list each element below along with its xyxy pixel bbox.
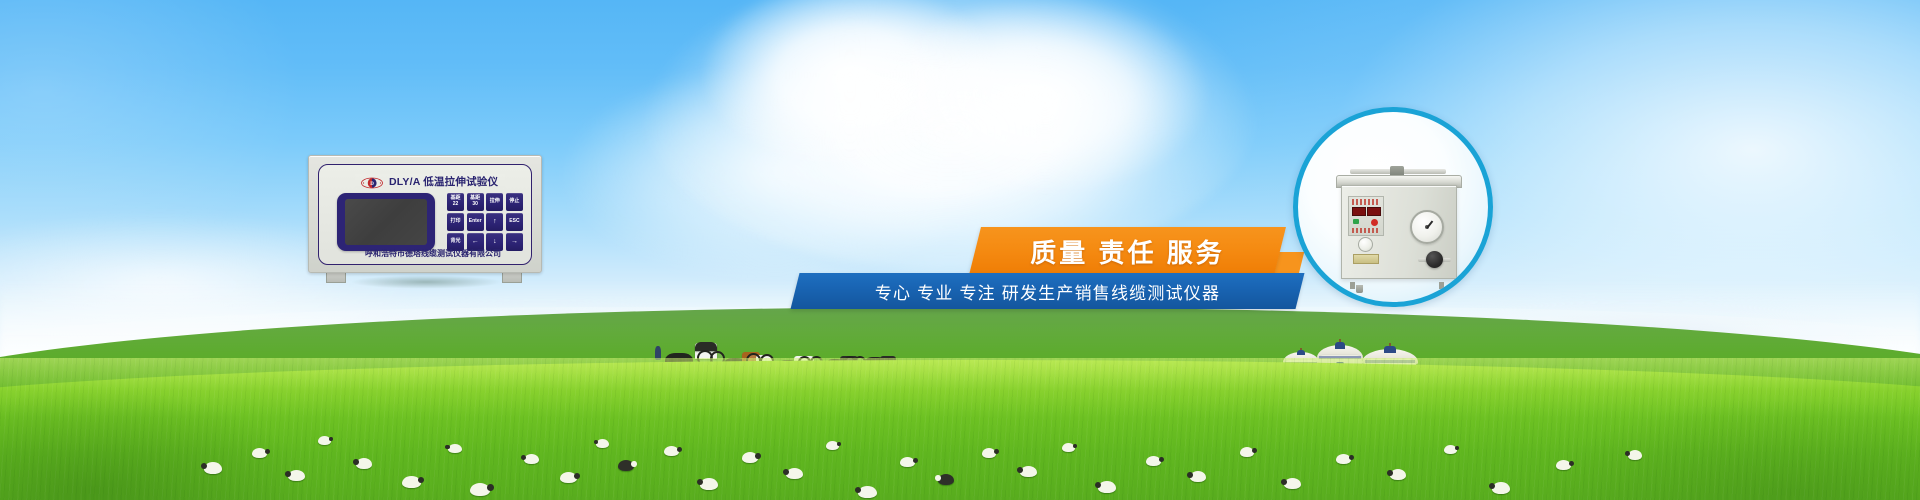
sheep bbox=[618, 460, 634, 471]
company-logo-icon: D bbox=[361, 176, 383, 188]
sheep bbox=[1062, 443, 1075, 452]
chamber-leg-right bbox=[1439, 282, 1444, 289]
key-arrow-right-icon[interactable]: → bbox=[506, 233, 523, 251]
slogan-secondary-text: 专心 专业 专注 研发生产销售线缆测试仪器 bbox=[875, 279, 1220, 304]
instrument-lcd-screen bbox=[345, 199, 427, 245]
sheep bbox=[1628, 450, 1642, 460]
sheep bbox=[1336, 454, 1351, 464]
sheep bbox=[826, 441, 839, 450]
sheep bbox=[204, 462, 222, 474]
sheep bbox=[596, 439, 609, 448]
instrument-case: D DLY/A 低温拉伸试验仪 基距 22 基距 30 拉伸 停止 打印 Ent… bbox=[308, 155, 542, 273]
meadow-shadow-left bbox=[0, 370, 520, 500]
tensile-tester-instrument: D DLY/A 低温拉伸试验仪 基距 22 基距 30 拉伸 停止 打印 Ent… bbox=[308, 155, 540, 283]
sheep bbox=[448, 444, 462, 453]
valve-handwheel bbox=[1426, 251, 1443, 268]
nameplate bbox=[1353, 254, 1379, 264]
digital-display-2 bbox=[1367, 207, 1381, 216]
chamber-control-panel bbox=[1348, 196, 1384, 236]
instrument-company-name: 呼和浩特市德塔线缆测试仪器有限公司 bbox=[365, 248, 499, 260]
sheep bbox=[1020, 466, 1037, 477]
sheep bbox=[318, 436, 331, 445]
circle-ring-border bbox=[1293, 107, 1493, 307]
key-base-distance-22[interactable]: 基距 22 bbox=[447, 193, 464, 211]
key-arrow-up-icon[interactable]: ↑ bbox=[486, 213, 503, 231]
control-label-bottom bbox=[1352, 228, 1380, 233]
sheep bbox=[524, 454, 539, 464]
sheep bbox=[1240, 447, 1254, 457]
sheep bbox=[982, 448, 996, 458]
sheep bbox=[938, 474, 954, 485]
sheep bbox=[1556, 460, 1571, 470]
sheep bbox=[742, 452, 758, 463]
digital-display-1 bbox=[1352, 207, 1366, 216]
instrument-display-bezel bbox=[337, 193, 435, 251]
sheep bbox=[1146, 456, 1161, 466]
red-led-indicator bbox=[1371, 219, 1378, 226]
key-escape[interactable]: ESC bbox=[506, 213, 523, 231]
key-stop[interactable]: 停止 bbox=[506, 193, 523, 211]
key-print[interactable]: 打印 bbox=[447, 213, 464, 231]
sheep bbox=[664, 446, 679, 456]
sheep bbox=[252, 448, 267, 458]
product-circle-inset bbox=[1293, 107, 1493, 307]
sheep bbox=[700, 478, 718, 490]
pressure-gauge-icon bbox=[1410, 210, 1444, 244]
test-chamber-product bbox=[1334, 169, 1462, 283]
small-gauge-icon bbox=[1358, 237, 1373, 252]
chamber-leg-left bbox=[1350, 282, 1355, 289]
sheep bbox=[288, 470, 305, 481]
green-led-indicator bbox=[1353, 219, 1359, 224]
sheep bbox=[560, 472, 577, 483]
sheep bbox=[1098, 481, 1116, 493]
sheep bbox=[1284, 478, 1301, 489]
sheep bbox=[1190, 471, 1206, 482]
sheep bbox=[356, 458, 372, 469]
meadow-shadow-right bbox=[1280, 380, 1920, 500]
slogan-ribbon-secondary: 专心 专业 专注 研发生产销售线缆测试仪器 bbox=[791, 273, 1305, 309]
instrument-keypad[interactable]: 基距 22 基距 30 拉伸 停止 打印 Enter ↑ ESC 背光 ← ↓ … bbox=[447, 193, 523, 251]
instrument-shadow bbox=[326, 273, 526, 291]
key-base-distance-30[interactable]: 基距 30 bbox=[467, 193, 484, 211]
control-label-top bbox=[1352, 199, 1380, 205]
cloud-icon bbox=[880, 0, 1210, 195]
sheep bbox=[402, 476, 421, 488]
sheep bbox=[1492, 482, 1510, 494]
key-enter[interactable]: Enter bbox=[467, 213, 484, 231]
chamber-drain-pipe bbox=[1356, 285, 1363, 293]
sheep bbox=[786, 468, 803, 479]
sheep bbox=[858, 486, 877, 498]
svg-text:D: D bbox=[370, 182, 374, 187]
key-stretch[interactable]: 拉伸 bbox=[486, 193, 503, 211]
sheep bbox=[1390, 469, 1406, 480]
sheep bbox=[900, 457, 915, 467]
gauge-center-pin bbox=[1425, 225, 1429, 229]
sheep bbox=[470, 483, 490, 496]
promotional-banner: D DLY/A 低温拉伸试验仪 基距 22 基距 30 拉伸 停止 打印 Ent… bbox=[0, 0, 1920, 500]
slogan-ribbon-primary: 质量 责任 服务 bbox=[969, 227, 1286, 275]
chamber-body bbox=[1341, 185, 1457, 279]
sheep bbox=[1444, 445, 1457, 454]
instrument-model-title: DLY/A 低温拉伸试验仪 bbox=[389, 176, 505, 189]
grassland bbox=[0, 300, 1920, 500]
instrument-front-panel: D DLY/A 低温拉伸试验仪 基距 22 基距 30 拉伸 停止 打印 Ent… bbox=[318, 164, 532, 265]
slogan-primary-text: 质量 责任 服务 bbox=[1030, 233, 1224, 270]
